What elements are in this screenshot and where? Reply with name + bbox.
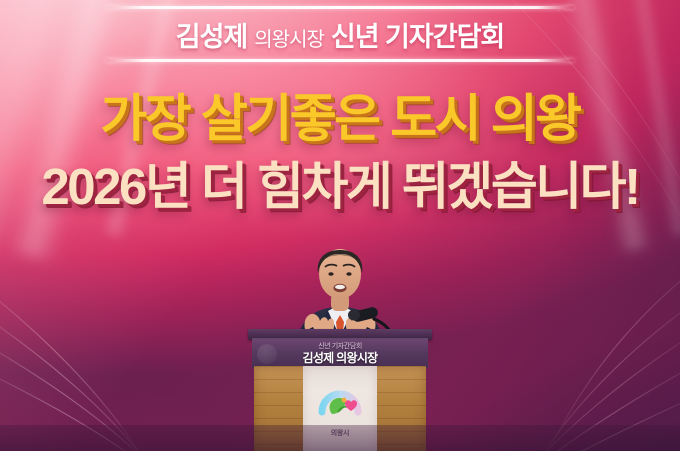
header-title-line: 김성제 의왕시장 신년 기자간담회 bbox=[176, 9, 505, 59]
press-conference-backdrop-photo: 김성제 의왕시장 신년 기자간담회 가장 살기좋은 도시 의왕 2026년 더 … bbox=[0, 0, 680, 451]
podium-crest-icon bbox=[257, 344, 277, 364]
header-event-name: 신년 기자간담회 bbox=[331, 15, 504, 54]
podium-sign-subtitle: 신년 기자간담회 bbox=[318, 343, 362, 350]
header-mayor-title: 의왕시장 bbox=[254, 23, 324, 52]
stage-scene: 신년 기자간담회 김성제 의왕시장 bbox=[0, 221, 680, 451]
banner-header: 김성제 의왕시장 신년 기자간담회 bbox=[0, 6, 680, 62]
podium-sign-title: 김성제 의왕시장 bbox=[302, 352, 377, 364]
header-mayor-name: 김성제 bbox=[176, 15, 248, 54]
podium-sign: 신년 기자간담회 김성제 의왕시장 bbox=[252, 338, 428, 368]
slogan-line-1: 가장 살기좋은 도시 의왕 bbox=[0, 92, 680, 146]
header-rule-bottom bbox=[106, 59, 574, 62]
stage-floor bbox=[0, 425, 680, 451]
banner-slogan: 가장 살기좋은 도시 의왕 2026년 더 힘차게 뛰겠습니다! bbox=[0, 92, 680, 214]
uiwang-city-emblem-icon bbox=[318, 388, 362, 422]
slogan-line-2: 2026년 더 힘차게 뛰겠습니다! bbox=[0, 160, 680, 214]
